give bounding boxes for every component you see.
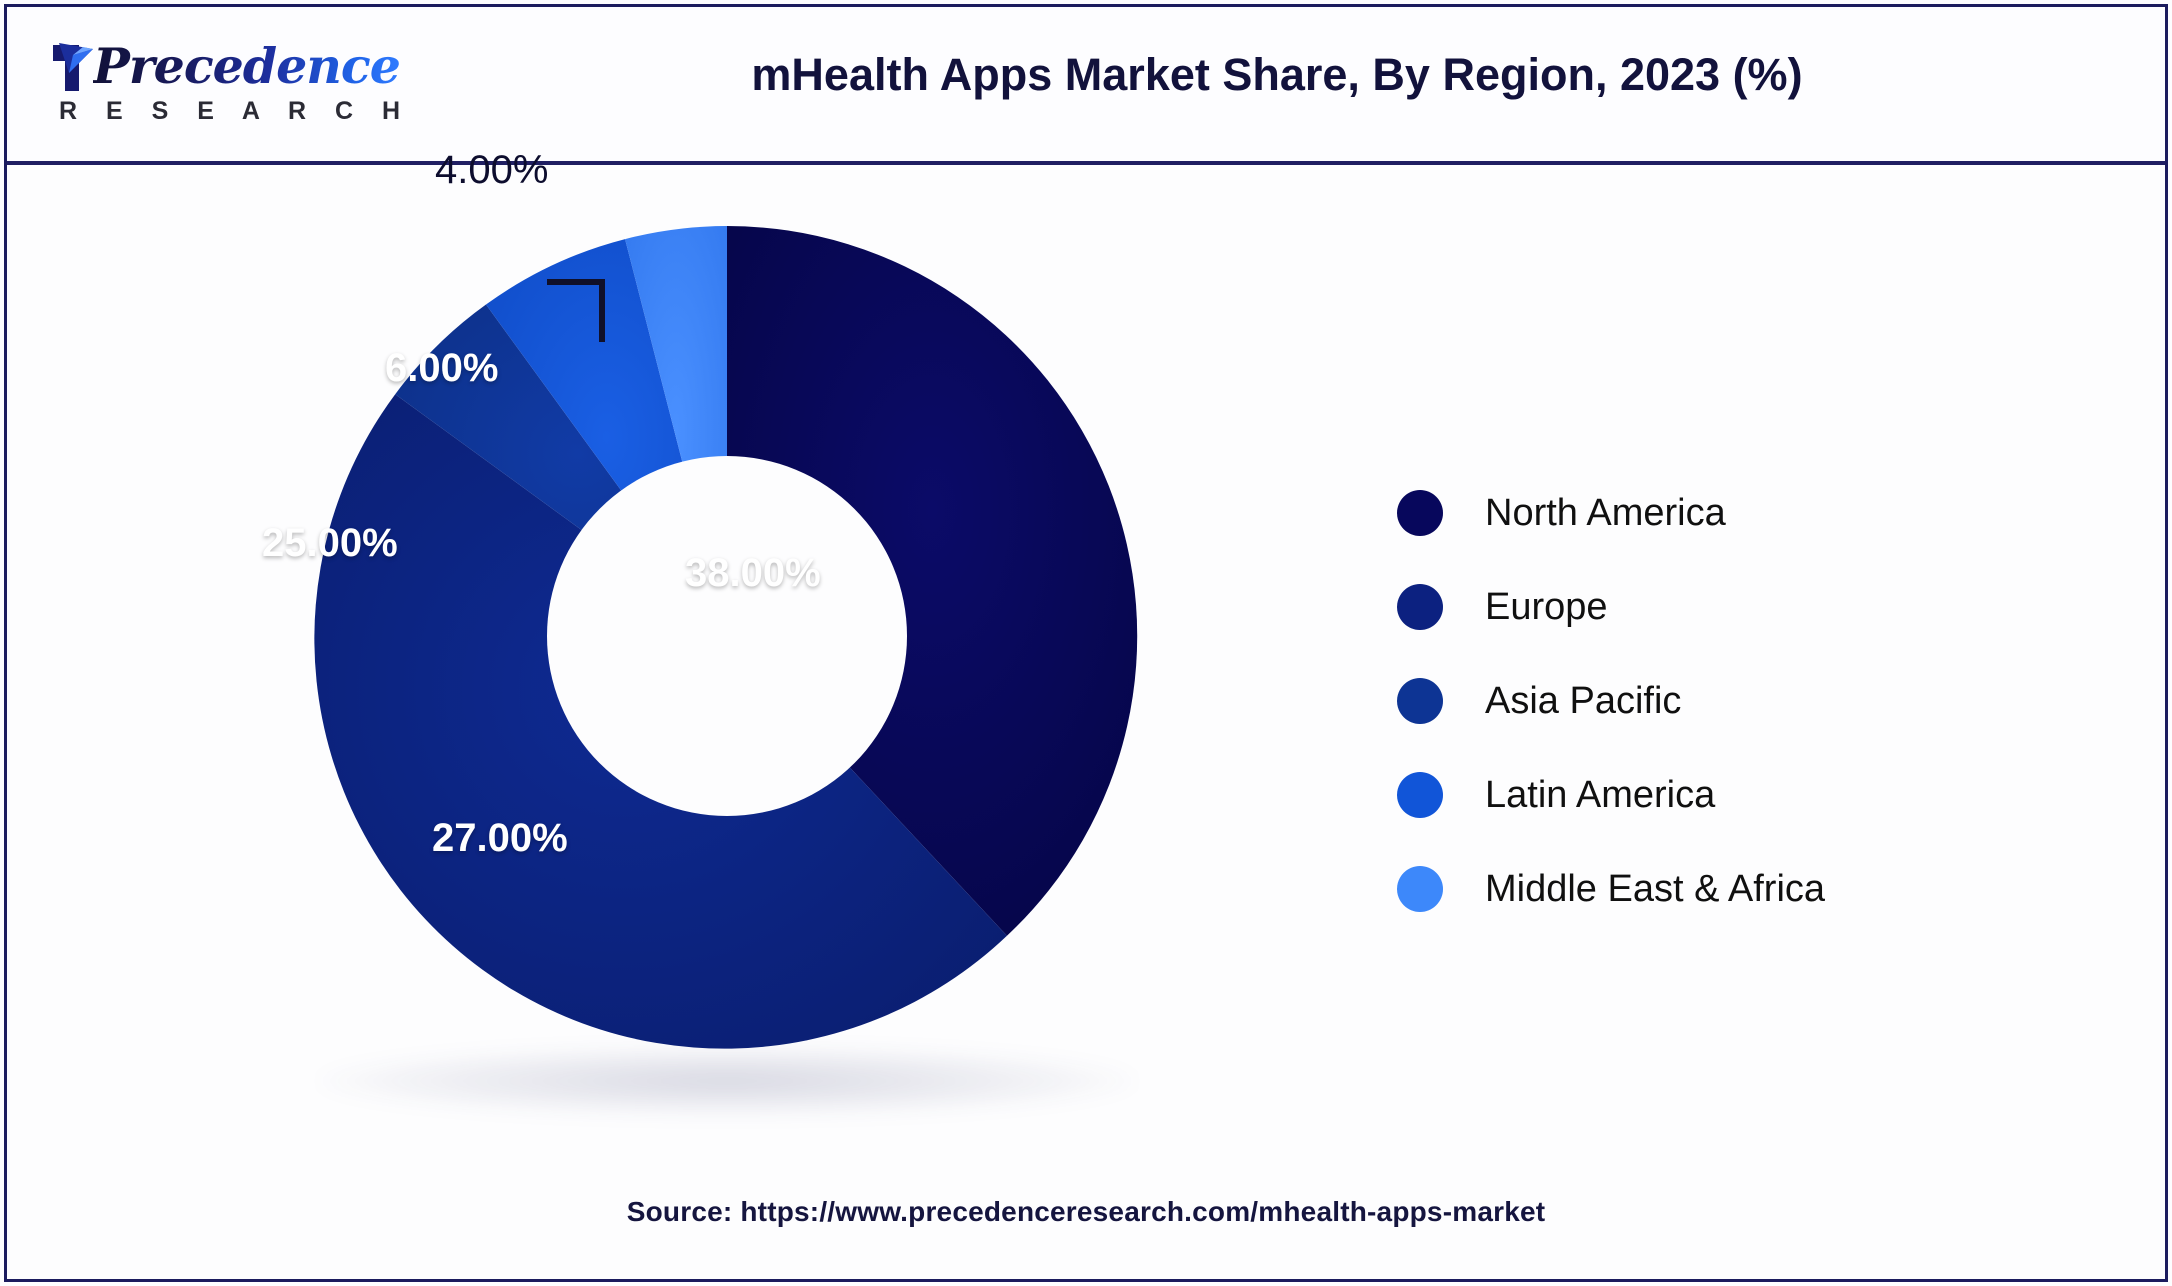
legend-dot-icon	[1397, 584, 1443, 630]
legend-dot-icon	[1397, 772, 1443, 818]
legend-label: Europe	[1485, 586, 1608, 629]
chart-header: Precedence R E S E A R C H mHealth Apps …	[7, 7, 2165, 165]
chart-legend: North America Europe Asia Pacific Latin …	[1397, 466, 2077, 936]
slice-label-north-america: 38.00%	[685, 551, 821, 596]
legend-label: Latin America	[1485, 774, 1715, 817]
legend-label: North America	[1485, 492, 1726, 535]
legend-dot-icon	[1397, 866, 1443, 912]
chart-page: Precedence R E S E A R C H mHealth Apps …	[0, 0, 2172, 1286]
slice-label-asia-pacific: 25.00%	[262, 521, 398, 566]
donut-svg	[257, 166, 1197, 1106]
logo-subtitle: R E S E A R C H	[59, 97, 411, 126]
donut-chart: 4.00% 6.00% 25.00% 27.00% 38.00%	[257, 166, 1197, 1106]
precedence-research-logo: Precedence R E S E A R C H	[47, 35, 387, 141]
legend-dot-icon	[1397, 490, 1443, 536]
slice-label-middle-east-africa: 4.00%	[435, 148, 548, 193]
legend-dot-icon	[1397, 678, 1443, 724]
donut-center-hole	[547, 456, 907, 816]
logo-wordmark: Precedence	[93, 37, 400, 95]
legend-item-latin-america[interactable]: Latin America	[1397, 748, 2077, 842]
legend-item-north-america[interactable]: North America	[1397, 466, 2077, 560]
legend-label: Asia Pacific	[1485, 680, 1681, 723]
legend-label: Middle East & Africa	[1485, 868, 1825, 911]
chart-plot-area: 4.00% 6.00% 25.00% 27.00% 38.00% North A…	[7, 166, 2165, 1276]
source-caption: Source: https://www.precedenceresearch.c…	[7, 1196, 2165, 1228]
legend-item-asia-pacific[interactable]: Asia Pacific	[1397, 654, 2077, 748]
slice-label-europe: 27.00%	[432, 816, 568, 861]
chart-title: mHealth Apps Market Share, By Region, 20…	[427, 49, 2127, 101]
slice-label-latin-america: 6.00%	[385, 346, 498, 391]
legend-item-europe[interactable]: Europe	[1397, 560, 2077, 654]
legend-item-middle-east-africa[interactable]: Middle East & Africa	[1397, 842, 2077, 936]
